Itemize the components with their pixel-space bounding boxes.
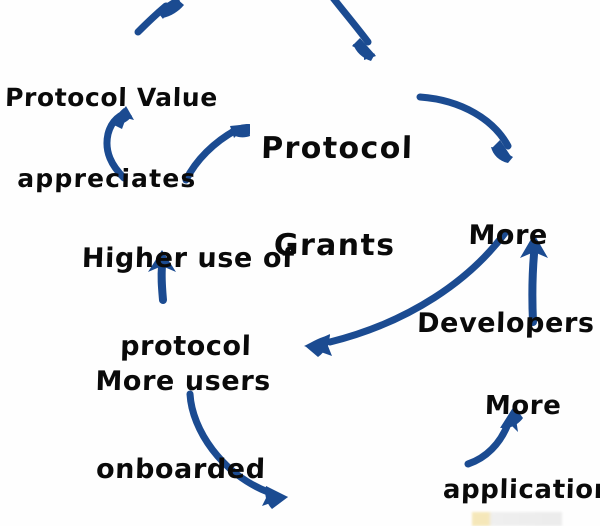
node-more-users-line1: More users	[85, 367, 282, 396]
node-more-developers-line2: Developers	[412, 309, 599, 338]
node-higher-use-line1: Higher use of	[79, 244, 298, 273]
node-more-users-onboarded: More users onboarded	[81, 309, 283, 526]
arrow-protocol-grants-to-more-developers	[420, 97, 513, 163]
node-more-users-line2: onboarded	[82, 455, 279, 484]
node-protocol-grants-line1: Protocol	[253, 133, 422, 165]
watermark-fragment	[472, 512, 562, 526]
node-more-developers-line1: More	[415, 221, 600, 250]
node-more-applications-line1: More	[445, 392, 600, 420]
node-protocol-value-line1: Protocol Value	[5, 84, 214, 111]
diagram-canvas: Protocol Value appreciates Protocol Gran…	[0, 0, 600, 526]
